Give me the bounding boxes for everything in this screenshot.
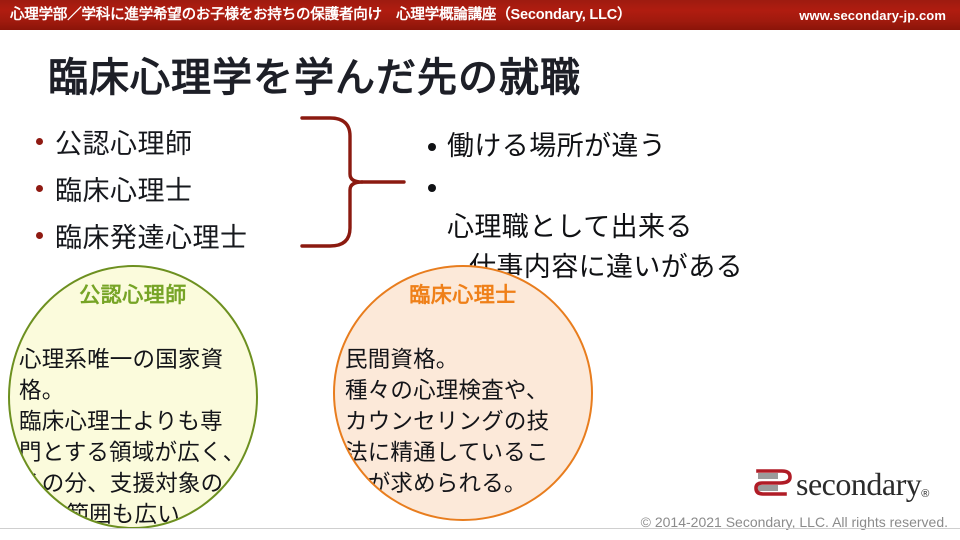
- page-title: 臨床心理学を学んだ先の就職: [48, 52, 581, 104]
- bullet-dot-icon: [36, 232, 43, 239]
- callout-body-text: 民間資格。 種々の心理検査や、 カウンセリングの技 法に精通しているこ とが求め…: [345, 347, 549, 496]
- list-item-label: 公認心理師: [55, 122, 193, 161]
- logo-wordmark: secondary: [796, 467, 921, 501]
- header-url: www.secondary-jp.com: [799, 6, 946, 25]
- list-item: 公認心理師: [36, 118, 306, 165]
- bullet-dot-icon: [36, 138, 43, 145]
- slide-canvas: 心理学部／学科に進学希望のお子様をお持ちの保護者向け 心理学概論講座（Secon…: [0, 0, 960, 540]
- callout-body: 民間資格。 種々の心理検査や、 カウンセリングの技 法に精通しているこ とが求め…: [335, 313, 591, 499]
- callout-heading: 公認心理師: [10, 283, 256, 309]
- registered-mark-icon: ®: [921, 488, 929, 500]
- callout-body-last-line: 範囲も広い。: [19, 499, 250, 529]
- callout-circle-rinshoushinrishi: 臨床心理士 民間資格。 種々の心理検査や、 カウンセリングの技 法に精通している…: [333, 265, 593, 521]
- list-item: 臨床発達心理士: [36, 212, 306, 259]
- bullet-dot-icon: [36, 185, 43, 192]
- callout-body: 心理系唯一の国家資 格。 臨床心理士よりも専 門とする領域が広く、 その分、支援…: [10, 313, 256, 529]
- book-logo-icon: [752, 465, 794, 503]
- qualification-list: 公認心理師 臨床心理士 臨床発達心理士: [36, 118, 306, 259]
- header-bar: 心理学部／学科に進学希望のお子様をお持ちの保護者向け 心理学概論講座（Secon…: [0, 0, 960, 30]
- list-item-line1: 心理職として出来る: [447, 212, 693, 242]
- list-item-label: 臨床発達心理士: [55, 216, 248, 255]
- list-item-label: 臨床心理士: [55, 169, 193, 208]
- footer-divider: [0, 528, 960, 529]
- secondary-logo: secondary ®: [752, 462, 948, 506]
- list-item-label: 働ける場所が違う: [447, 126, 666, 166]
- list-item: 働ける場所が違う: [428, 126, 848, 166]
- list-item: 臨床心理士: [36, 165, 306, 212]
- bullet-dot-icon: [428, 143, 436, 151]
- bullet-dot-icon: [428, 184, 436, 192]
- callout-body-text: 心理系唯一の国家資 格。 臨床心理士よりも専 門とする領域が広く、 その分、支援…: [19, 347, 245, 496]
- callout-circle-koninshinrishi: 公認心理師 心理系唯一の国家資 格。 臨床心理士よりも専 門とする領域が広く、 …: [8, 265, 258, 529]
- header-title: 心理学部／学科に進学希望のお子様をお持ちの保護者向け 心理学概論講座（Secon…: [10, 5, 631, 25]
- curly-brace-right-icon: [300, 112, 430, 252]
